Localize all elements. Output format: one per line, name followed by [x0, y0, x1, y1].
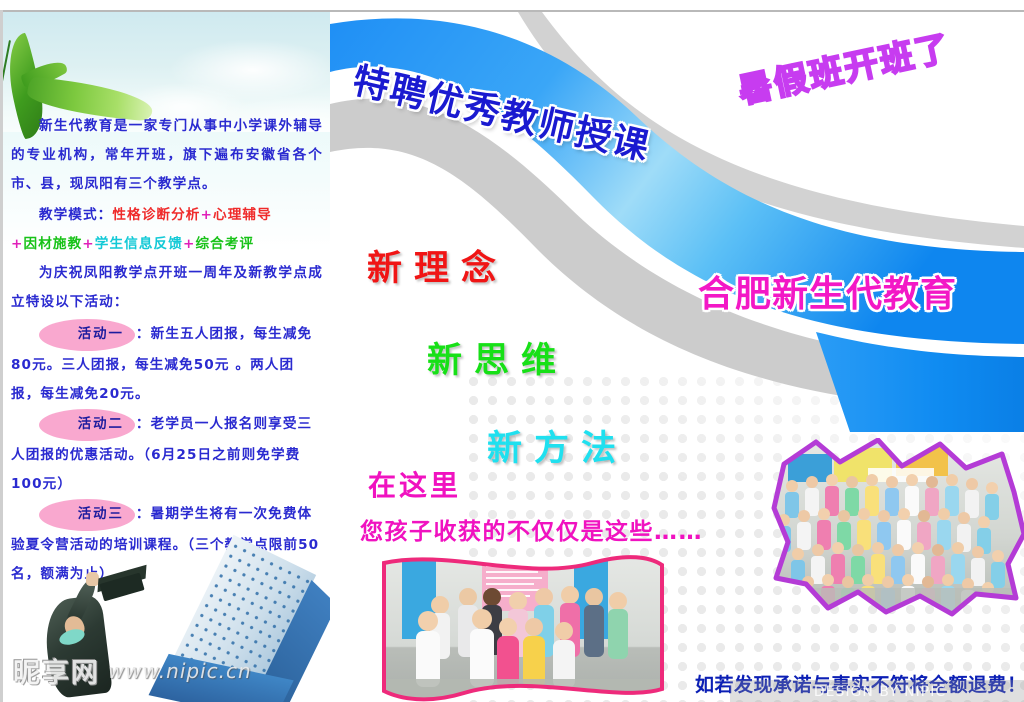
mode-item-3: 学生信息反馈	[95, 236, 183, 252]
left-column: 新生代教育是一家专门从事中小学课外辅导的专业机构，常年开班，旗下遍布安徽省各个市…	[3, 12, 330, 702]
photo-large-group	[770, 438, 1024, 618]
activity-colon-1: ：	[136, 326, 151, 342]
teaching-mode-line-2: +因材施教+学生信息反馈+综合考评	[11, 230, 323, 259]
activity-row-1: 活动一：新生五人团报，每生减免80元。三人团报，每生减免50元 。两人团报，每生…	[11, 319, 323, 409]
mode-sep-0: +	[201, 207, 214, 223]
activity-pill-1: 活动一	[39, 319, 135, 351]
activity-pill-2: 活动二	[39, 409, 135, 441]
teaching-mode-line: 教学模式：性格诊断分析+心理辅导	[11, 201, 323, 230]
activity-colon-3: ：	[136, 506, 151, 522]
promise-watermark-overlay: DESIGN BY NIPIC	[730, 680, 1024, 702]
watermark-brand: 昵享网	[13, 651, 100, 690]
mode-item-2: 因材施教	[24, 236, 83, 252]
mode-item-0: 性格诊断分析	[112, 207, 200, 223]
watermark-url: www.nipic.cn	[108, 659, 252, 683]
poster-canvas: 新生代教育是一家专门从事中小学课外辅导的专业机构，常年开班，旗下遍布安徽省各个市…	[0, 0, 1024, 702]
mode-item-1: 心理辅导	[213, 207, 272, 223]
brand-title: 合肥新生代教育	[698, 265, 957, 317]
celebration-paragraph: 为庆祝凤阳教学点开班一周年及新教学点成立特设以下活动：	[11, 259, 323, 317]
mode-sep-1: +	[11, 236, 24, 252]
here-line-1: 在这里	[368, 464, 461, 504]
mode-item-4: 综合考评	[195, 236, 254, 252]
left-body-text: 新生代教育是一家专门从事中小学课外辅导的专业机构，常年开班，旗下遍布安徽省各个市…	[11, 112, 323, 589]
mode-sep-2: +	[82, 236, 95, 252]
here-line-2: 您孩子收获的不仅仅是这些……	[360, 512, 703, 546]
slogan-new-method: 新方法	[487, 420, 628, 471]
watermark: 昵享网 www.nipic.cn	[13, 651, 252, 690]
slogan-new-thinking: 新思维	[427, 332, 568, 383]
teaching-mode-label: 教学模式：	[39, 207, 112, 223]
mode-sep-3: +	[183, 236, 196, 252]
slogan-new-concept: 新理念	[367, 240, 508, 291]
activity-colon-2: ：	[136, 416, 151, 432]
photo-kids-group	[378, 547, 668, 702]
activity-row-2: 活动二：老学员一人报名则享受三人团报的优惠活动。（6月25日之前则免学费100元…	[11, 409, 323, 499]
right-column: 特聘优秀教师授课 暑假班开班了 合肥新生代教育 新理念 新思维 新方法 在这里 …	[330, 12, 1024, 702]
activity-pill-3: 活动三	[39, 499, 135, 531]
intro-paragraph: 新生代教育是一家专门从事中小学课外辅导的专业机构，常年开班，旗下遍布安徽省各个市…	[11, 112, 323, 199]
blue-wave-lower-right	[816, 332, 1024, 432]
